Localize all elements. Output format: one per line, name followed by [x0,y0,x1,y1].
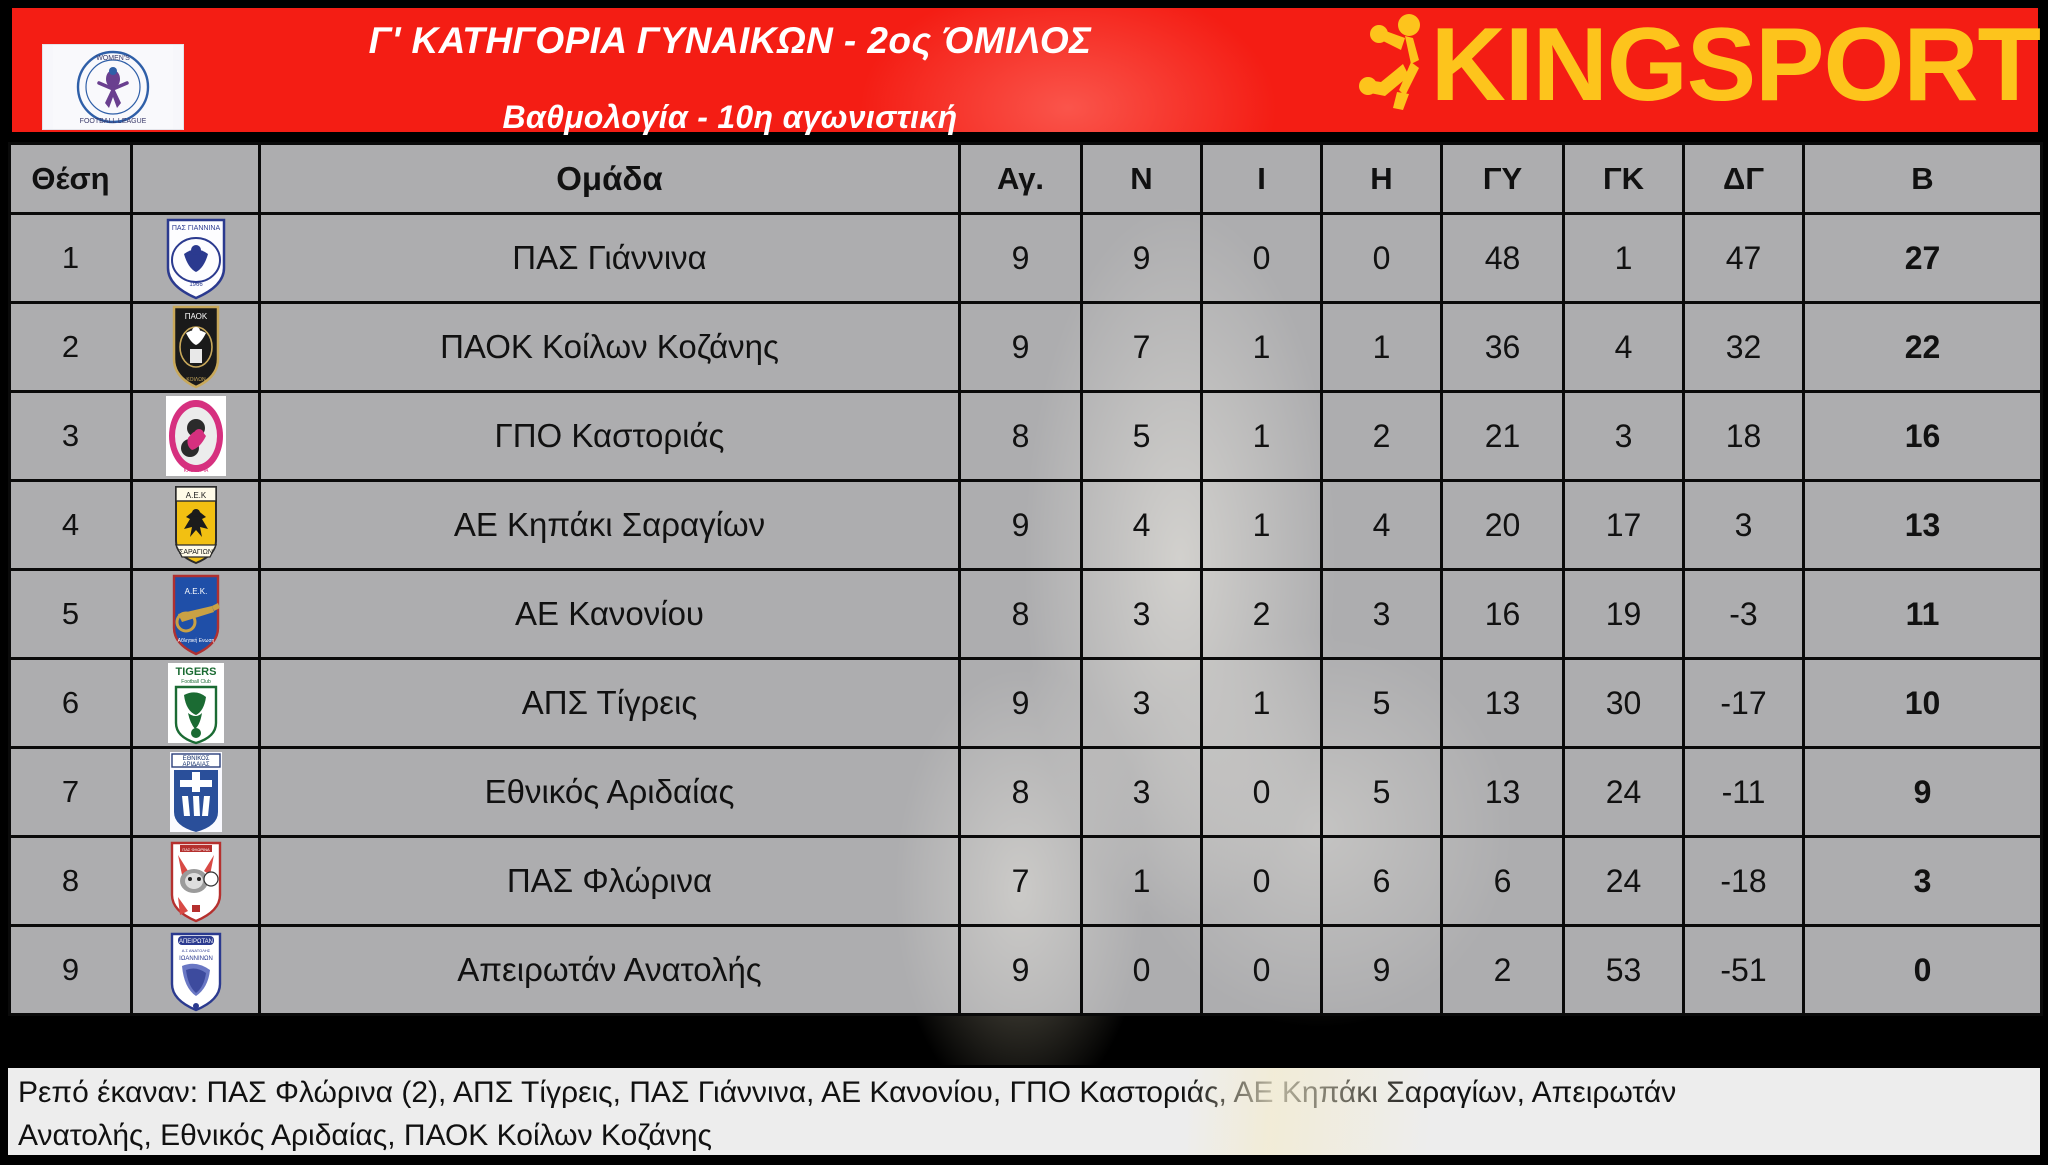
gpo-kastorias-crest: ΚΑΣΤΟΡΙΑ [154,394,238,478]
cell-played: 9 [960,303,1082,392]
cell-crest: ΕΘΝΙΚΟΣ ΑΡΙΔΑΙΑΣ [132,748,260,837]
cell-played: 8 [960,570,1082,659]
cell-position: 2 [10,303,132,392]
cell-goal-diff: -17 [1684,659,1804,748]
standings-graphic: WOMEN'S FOOTBALL LEAGUE Γ' ΚΑΤΗΓΟΡΙΑ ΓΥΝ… [0,0,2048,1165]
apeirotan-anatolis-crest: ΑΠΕΙΡΩΤΑΝ Α.Σ ΑΝΑΤΟΛΗΣ ΙΩΑΝΝΙΝΩΝ [154,928,238,1012]
cell-losses: 6 [1322,837,1442,926]
cell-played: 9 [960,214,1082,303]
column-header-wins: Ν [1082,144,1202,214]
table-row: 6 TIGERS Football Club [10,659,2042,748]
aps-tigreis-crest: TIGERS Football Club [154,661,238,745]
column-header-played: Αγ. [960,144,1082,214]
footer-note: Ρεπό έκαναν: ΠΑΣ Φλώρινα (2), ΑΠΣ Τίγρει… [8,1068,2040,1156]
cell-goals-for: 48 [1442,214,1564,303]
svg-text:Α.Ε.Κ: Α.Ε.Κ [185,491,206,500]
table-row: 3 ΚΑΣΤΟΡΙΑ [10,392,2042,481]
cell-crest: Α.Ε.Κ. Αθλητική Ενωση [132,570,260,659]
ae-kipaki-saragion-crest: Α.Ε.Κ ΣΑΡΑΓΙΩΝ [154,483,238,567]
cell-points: 22 [1804,303,2042,392]
svg-text:TIGERS: TIGERS [175,666,216,678]
table-row: 2 ΠΑΟΚ ΚΟΙΛΩΝ ΠΑΟΚ Κοίλ [10,303,2042,392]
cell-goals-for: 36 [1442,303,1564,392]
cell-played: 7 [960,837,1082,926]
cell-goal-diff: 18 [1684,392,1804,481]
cell-crest: ΠΑΣ ΦΛΩΡΙΝΑ [132,837,260,926]
cell-draws: 1 [1202,303,1322,392]
cell-goals-for: 2 [1442,926,1564,1015]
kingsport-figure-icon [1353,12,1449,120]
cell-position: 8 [10,837,132,926]
cell-losses: 5 [1322,659,1442,748]
cell-losses: 2 [1322,392,1442,481]
cell-points: 11 [1804,570,2042,659]
cell-team-name: ΠΑΣ Γιάννινα [260,214,960,303]
cell-team-name: ΠΑΟΚ Κοίλων Κοζάνης [260,303,960,392]
cell-draws: 0 [1202,926,1322,1015]
cell-goals-for: 13 [1442,659,1564,748]
cell-wins: 3 [1082,748,1202,837]
standings-table: Θέση Ομάδα Αγ. Ν Ι Η ΓΥ ΓΚ ΔΓ Β 1 [8,142,2043,1016]
column-header-goals-for: ΓΥ [1442,144,1564,214]
cell-played: 9 [960,481,1082,570]
cell-team-name: ΓΠΟ Καστοριάς [260,392,960,481]
cell-wins: 7 [1082,303,1202,392]
cell-goal-diff: -11 [1684,748,1804,837]
cell-points: 27 [1804,214,2042,303]
cell-crest: TIGERS Football Club [132,659,260,748]
cell-goals-for: 13 [1442,748,1564,837]
cell-position: 7 [10,748,132,837]
cell-goals-for: 6 [1442,837,1564,926]
cell-goals-against: 17 [1564,481,1684,570]
cell-draws: 0 [1202,748,1322,837]
cell-losses: 9 [1322,926,1442,1015]
cell-points: 10 [1804,659,2042,748]
table-row: 5 Α.Ε.Κ. Αθλητική Ενωση ΑΕ Κανονίου [10,570,2042,659]
paok-koilon-kozanis-crest: ΠΑΟΚ ΚΟΙΛΩΝ [154,305,238,389]
cell-position: 4 [10,481,132,570]
cell-played: 9 [960,926,1082,1015]
cell-played: 8 [960,748,1082,837]
pas-giannina-crest: ΠΑΣ ΓΙΑΝΝΙΝΑ 1966 [154,216,238,300]
cell-team-name: ΑΠΣ Τίγρεις [260,659,960,748]
kingsport-wordmark: KINGSPORT [1431,18,2040,114]
column-header-draws: Ι [1202,144,1322,214]
table-row: 8 ΠΑΣ ΦΛΩΡΙΝΑ [10,837,2042,926]
cell-wins: 3 [1082,659,1202,748]
footer-line-1: Ρεπό έκαναν: ΠΑΣ Φλώρινα (2), ΑΠΣ Τίγρει… [18,1072,2030,1115]
cell-wins: 0 [1082,926,1202,1015]
cell-crest: Α.Ε.Κ ΣΑΡΑΓΙΩΝ [132,481,260,570]
table-header: Θέση Ομάδα Αγ. Ν Ι Η ΓΥ ΓΚ ΔΓ Β [10,144,2042,214]
womens-football-league-logo: WOMEN'S FOOTBALL LEAGUE [42,44,184,130]
cell-points: 16 [1804,392,2042,481]
page-title: Γ' ΚΑΤΗΓΟΡΙΑ ΓΥΝΑΙΚΩΝ - 2ος ΌΜΙΛΟΣ [200,6,1260,59]
cell-goals-for: 16 [1442,570,1564,659]
column-header-points: Β [1804,144,2042,214]
svg-text:ΠΑΣ ΦΛΩΡΙΝΑ: ΠΑΣ ΦΛΩΡΙΝΑ [182,847,210,852]
svg-text:Football Club: Football Club [181,679,211,685]
svg-text:ΣΑΡΑΓΙΩΝ: ΣΑΡΑΓΙΩΝ [179,549,213,556]
svg-text:ΚΟΙΛΩΝ: ΚΟΙΛΩΝ [186,377,206,383]
cell-draws: 0 [1202,214,1322,303]
cell-goals-against: 30 [1564,659,1684,748]
cell-points: 0 [1804,926,2042,1015]
cell-goal-diff: 3 [1684,481,1804,570]
cell-wins: 1 [1082,837,1202,926]
cell-points: 13 [1804,481,2042,570]
cell-goal-diff: -3 [1684,570,1804,659]
cell-played: 8 [960,392,1082,481]
bottom-strip [0,1155,2048,1165]
column-header-team: Ομάδα [260,144,960,214]
table-row: 4 Α.Ε.Κ ΣΑΡΑΓΙΩΝ ΑΕ Κηπ [10,481,2042,570]
table-row: 9 ΑΠΕΙΡΩΤΑΝ Α.Σ ΑΝΑΤΟΛΗΣ ΙΩΑΝΝΙΝΩΝ [10,926,2042,1015]
ethnikos-aridaias-crest: ΕΘΝΙΚΟΣ ΑΡΙΔΑΙΑΣ [154,750,238,834]
svg-text:ΑΠΕΙΡΩΤΑΝ: ΑΠΕΙΡΩΤΑΝ [178,939,212,945]
column-header-position: Θέση [10,144,132,214]
cell-losses: 3 [1322,570,1442,659]
cell-wins: 3 [1082,570,1202,659]
cell-losses: 1 [1322,303,1442,392]
ae-kanoniou-crest: Α.Ε.Κ. Αθλητική Ενωση [154,572,238,656]
cell-wins: 9 [1082,214,1202,303]
cell-crest: ΠΑΟΚ ΚΟΙΛΩΝ [132,303,260,392]
svg-text:FOOTBALL LEAGUE: FOOTBALL LEAGUE [80,118,147,125]
cell-draws: 1 [1202,481,1322,570]
svg-text:ΠΑΣ ΓΙΑΝΝΙΝΑ: ΠΑΣ ΓΙΑΝΝΙΝΑ [171,225,220,232]
column-header-losses: Η [1322,144,1442,214]
cell-crest: ΠΑΣ ΓΙΑΝΝΙΝΑ 1966 [132,214,260,303]
cell-team-name: ΑΕ Κηπάκι Σαραγίων [260,481,960,570]
svg-text:ΙΩΑΝΝΙΝΩΝ: ΙΩΑΝΝΙΝΩΝ [179,956,213,962]
svg-text:ΑΡΙΔΑΙΑΣ: ΑΡΙΔΑΙΑΣ [182,762,209,768]
cell-goal-diff: 47 [1684,214,1804,303]
cell-losses: 4 [1322,481,1442,570]
cell-team-name: ΠΑΣ Φλώρινα [260,837,960,926]
table-row: 1 ΠΑΣ ΓΙΑΝΝΙΝΑ 1966 ΠΑΣ Γιάννινα [10,214,2042,303]
svg-text:Α.Ε.Κ.: Α.Ε.Κ. [184,587,207,596]
cell-position: 1 [10,214,132,303]
cell-position: 5 [10,570,132,659]
cell-losses: 5 [1322,748,1442,837]
kingsport-logo: KINGSPORT [1353,6,2040,126]
title-block: Γ' ΚΑΤΗΓΟΡΙΑ ΓΥΝΑΙΚΩΝ - 2ος ΌΜΙΛΟΣ Βαθμο… [200,6,1260,136]
cell-goal-diff: 32 [1684,303,1804,392]
cell-draws: 0 [1202,837,1322,926]
table-body: 1 ΠΑΣ ΓΙΑΝΝΙΝΑ 1966 ΠΑΣ Γιάννινα [10,214,2042,1015]
cell-goals-against: 24 [1564,748,1684,837]
cell-position: 6 [10,659,132,748]
cell-goals-against: 4 [1564,303,1684,392]
cell-points: 9 [1804,748,2042,837]
cell-goals-against: 53 [1564,926,1684,1015]
page-subtitle: Βαθμολογία - 10η αγωνιστική [200,59,1260,136]
cell-goal-diff: -18 [1684,837,1804,926]
cell-position: 3 [10,392,132,481]
cell-points: 3 [1804,837,2042,926]
cell-goals-against: 19 [1564,570,1684,659]
cell-team-name: Απειρωτάν Ανατολής [260,926,960,1015]
cell-draws: 1 [1202,659,1322,748]
cell-draws: 1 [1202,392,1322,481]
cell-wins: 4 [1082,481,1202,570]
pas-florina-crest: ΠΑΣ ΦΛΩΡΙΝΑ [154,839,238,923]
cell-goals-against: 1 [1564,214,1684,303]
svg-text:Αθλητική Ενωση: Αθλητική Ενωση [177,637,214,644]
svg-text:ΠΑΟΚ: ΠΑΟΚ [184,312,207,321]
cell-losses: 0 [1322,214,1442,303]
cell-played: 9 [960,659,1082,748]
svg-text:ΚΑΣΤΟΡΙΑ: ΚΑΣΤΟΡΙΑ [183,468,208,474]
cell-team-name: Εθνικός Αριδαίας [260,748,960,837]
column-header-goal-diff: ΔΓ [1684,144,1804,214]
table-header-row: Θέση Ομάδα Αγ. Ν Ι Η ΓΥ ΓΚ ΔΓ Β [10,144,2042,214]
column-header-crest [132,144,260,214]
cell-goals-for: 20 [1442,481,1564,570]
svg-text:WOMEN'S: WOMEN'S [96,55,130,62]
footer-line-2: Ανατολής, Εθνικός Αριδαίας, ΠΑΟΚ Κοίλων … [18,1115,2030,1158]
cell-crest: ΚΑΣΤΟΡΙΑ [132,392,260,481]
cell-goals-against: 3 [1564,392,1684,481]
cell-team-name: ΑΕ Κανονίου [260,570,960,659]
cell-position: 9 [10,926,132,1015]
cell-draws: 2 [1202,570,1322,659]
cell-goals-for: 21 [1442,392,1564,481]
svg-text:1966: 1966 [189,282,203,288]
cell-goal-diff: -51 [1684,926,1804,1015]
cell-wins: 5 [1082,392,1202,481]
table-row: 7 ΕΘΝΙΚΟΣ ΑΡΙΔΑΙΑΣ [10,748,2042,837]
column-header-goals-against: ΓΚ [1564,144,1684,214]
cell-goals-against: 24 [1564,837,1684,926]
cell-crest: ΑΠΕΙΡΩΤΑΝ Α.Σ ΑΝΑΤΟΛΗΣ ΙΩΑΝΝΙΝΩΝ [132,926,260,1015]
svg-text:Α.Σ ΑΝΑΤΟΛΗΣ: Α.Σ ΑΝΑΤΟΛΗΣ [181,948,210,953]
